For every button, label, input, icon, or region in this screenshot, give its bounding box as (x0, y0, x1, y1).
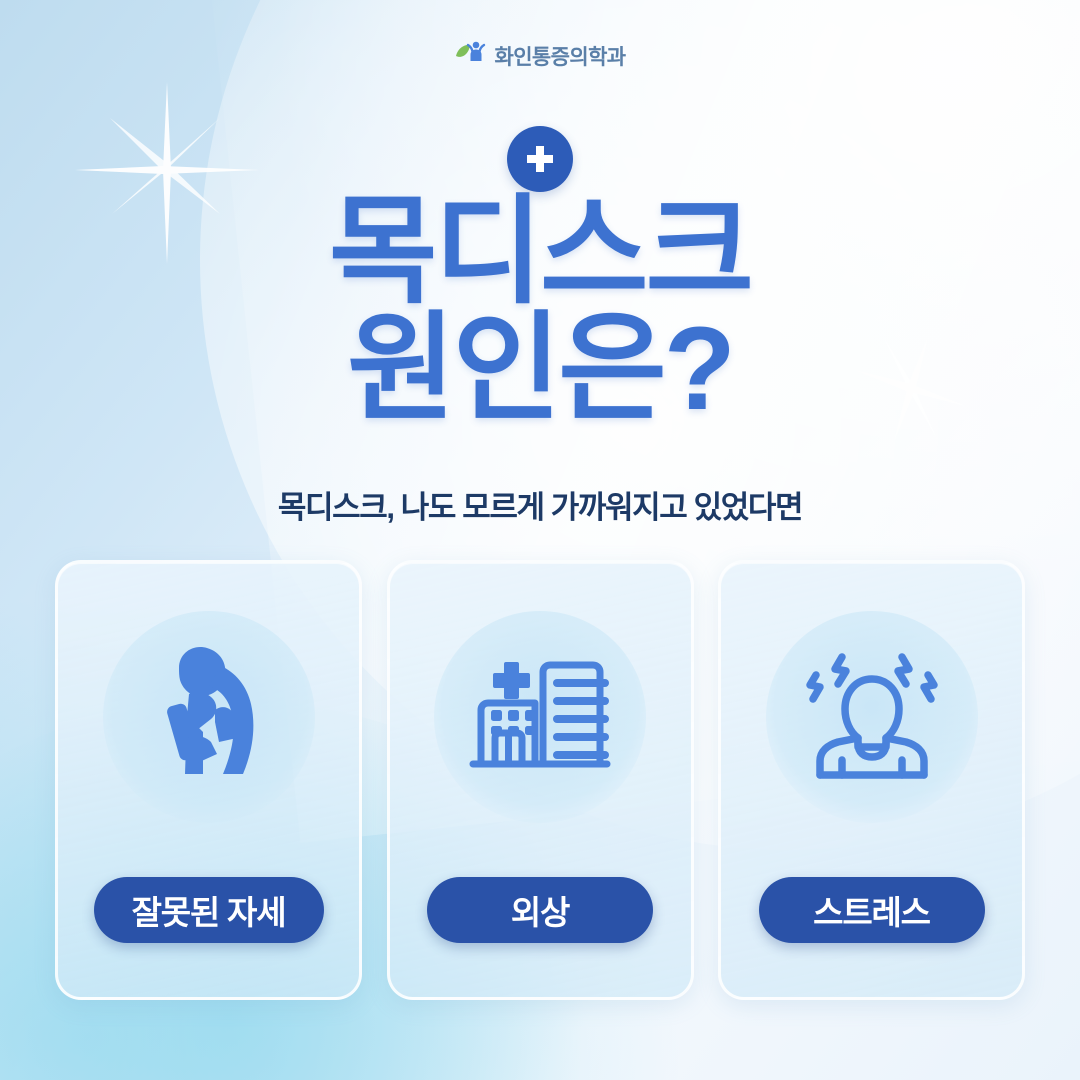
title-line-1: 목디스크 (0, 196, 1080, 309)
leaf-person-logo-icon (454, 40, 488, 71)
card-label-pill[interactable]: 스트레스 (759, 877, 985, 943)
cause-card-trauma[interactable]: 외상 (387, 560, 694, 1000)
icon-circle (766, 611, 978, 823)
icon-circle (434, 611, 646, 823)
poster-root: 화인통증의학과 목디스크 원인은? 목디스크, 나도 모르게 가까워지고 있었다… (0, 0, 1080, 1080)
cause-card-posture[interactable]: 잘못된 자세 (55, 560, 362, 1000)
card-label-pill[interactable]: 잘못된 자세 (94, 877, 324, 943)
page-title: 목디스크 원인은? (0, 196, 1080, 427)
cause-card-list: 잘못된 자세 (55, 560, 1025, 1000)
hospital-building-icon (465, 652, 615, 783)
medical-cross-icon (507, 126, 573, 192)
cause-card-stress[interactable]: 스트레스 (718, 560, 1025, 1000)
card-label-pill[interactable]: 외상 (427, 877, 653, 943)
brand-logo: 화인통증의학과 (0, 40, 1080, 71)
person-phone-posture-icon (143, 642, 275, 793)
brand-name: 화인통증의학과 (494, 41, 625, 71)
title-line-2: 원인은? (0, 313, 1080, 426)
icon-circle (103, 611, 315, 823)
stressed-person-icon (802, 647, 942, 788)
page-subtitle: 목디스크, 나도 모르게 가까워지고 있었다면 (0, 482, 1080, 527)
